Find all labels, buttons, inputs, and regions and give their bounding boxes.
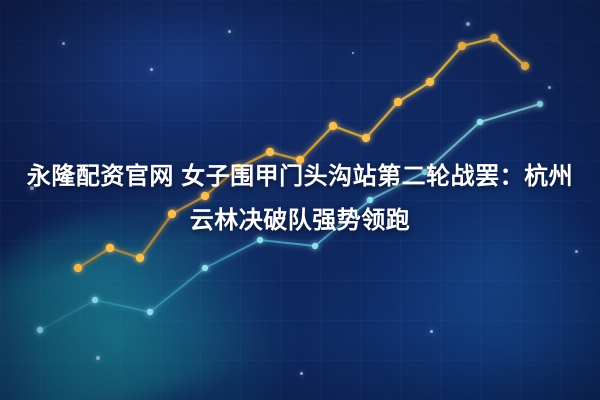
- sparkle-dot: [430, 330, 433, 333]
- promo-banner: 永隆配资官网 女子围甲门头沟站第二轮战罢：杭州云林决破队强势领跑: [0, 0, 600, 400]
- sparkle-dot: [228, 30, 231, 33]
- sparkle-dot: [352, 52, 354, 54]
- sparkle-dot: [575, 250, 578, 253]
- sparkle-dot: [62, 42, 65, 45]
- sparkle-dot: [466, 22, 470, 26]
- page-title: 永隆配资官网 女子围甲门头沟站第二轮战罢：杭州云林决破队强势领跑: [0, 155, 600, 243]
- sparkle-dot: [96, 356, 100, 360]
- sparkle-dot: [300, 372, 303, 375]
- sparkle-dot: [548, 86, 551, 89]
- sparkle-dot: [150, 68, 153, 71]
